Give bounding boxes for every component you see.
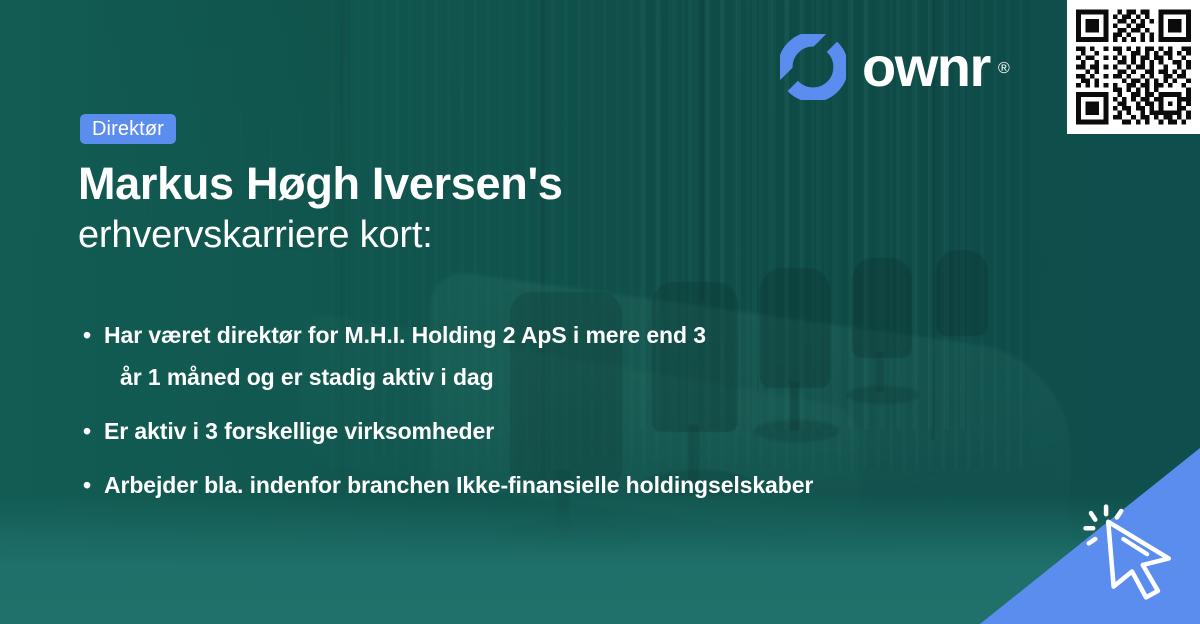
registered-trademark-icon: ® (998, 41, 1010, 97)
qr-code-panel[interactable] (1067, 0, 1200, 134)
list-item-text: Arbejder bla. indenfor branchen Ikke-fin… (104, 472, 813, 498)
career-facts-list: • Har været direktør for M.H.I. Holding … (80, 314, 980, 518)
bullet-icon: • (83, 314, 91, 356)
card-content: Direktør Markus Høgh Iversen's erhvervsk… (0, 0, 1200, 624)
bullet-icon: • (83, 410, 91, 452)
list-item-text-wrap: år 1 måned og er stadig aktiv i dag (104, 356, 980, 398)
list-item-text: Er aktiv i 3 forskellige virksomheder (104, 418, 494, 444)
bullet-icon: • (83, 464, 91, 506)
headline-name: Markus Høgh Iversen's (78, 158, 563, 210)
profile-share-card: Direktør Markus Høgh Iversen's erhvervsk… (0, 0, 1200, 624)
qr-code (1067, 0, 1200, 134)
list-item-text: Har været direktør for M.H.I. Holding 2 … (104, 322, 706, 348)
list-item: • Arbejder bla. indenfor branchen Ikke-f… (80, 464, 980, 506)
headline: Markus Høgh Iversen's erhvervskarriere k… (78, 158, 563, 260)
ownr-circle-mark (780, 34, 846, 100)
list-item: • Er aktiv i 3 forskellige virksomheder (80, 410, 980, 452)
list-item: • Har været direktør for M.H.I. Holding … (80, 314, 980, 398)
role-badge: Direktør (80, 114, 176, 144)
ownr-wordmark: ownr (862, 35, 990, 98)
headline-subtitle: erhvervskarriere kort: (78, 210, 563, 260)
ownr-logo[interactable]: ownr® (780, 34, 990, 100)
ownr-wordmark-group: ownr® (862, 39, 990, 95)
